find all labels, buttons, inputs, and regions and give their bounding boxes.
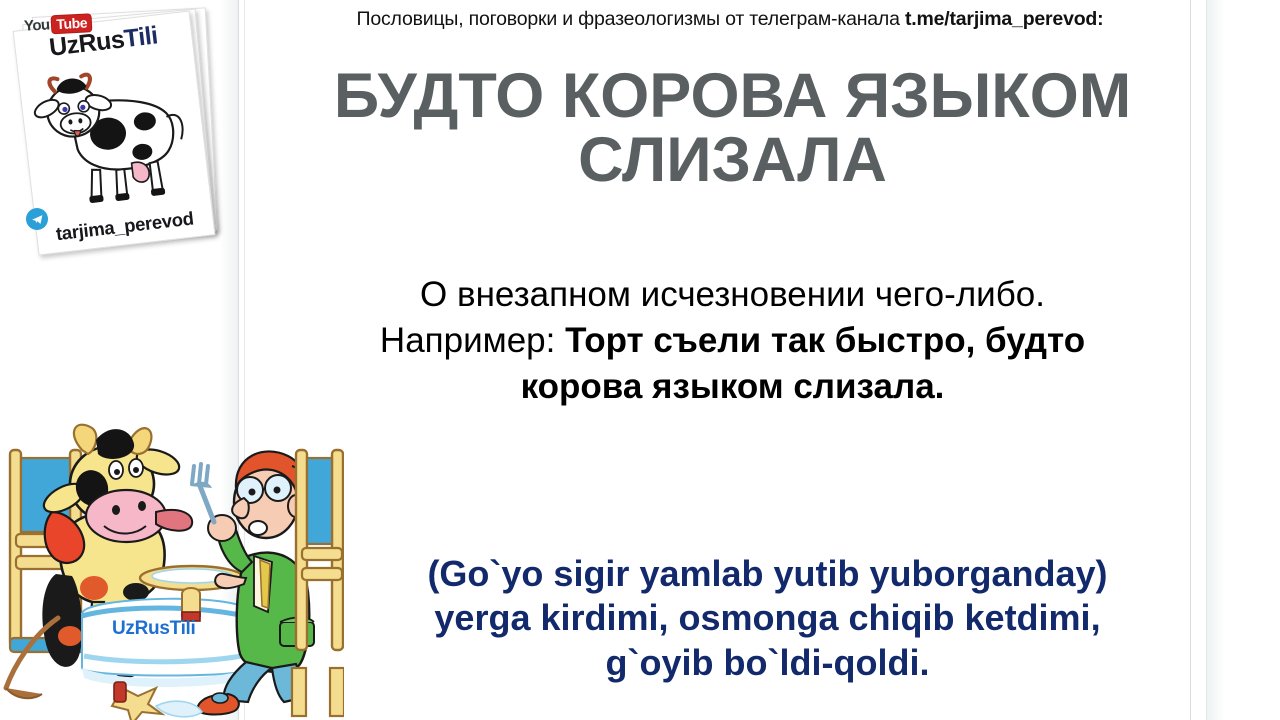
telegram-icon[interactable] xyxy=(26,208,48,230)
slide-canvas: Пословицы, поговорки и фразеологизмы от … xyxy=(0,0,1280,720)
floor-items xyxy=(112,682,202,720)
page-title-line-1: БУДТО КОРОВА ЯЗЫКОМ xyxy=(275,64,1190,128)
explanation-line-3: корова языком слизала. xyxy=(275,364,1190,410)
brand-logo-card: UzRusTili xyxy=(22,6,212,246)
explanation-example-part-1: Торт съели так быстро, будто xyxy=(565,321,1085,360)
uzbek-line-1: (Go`yo sigir yamlab yutib yuborganday) xyxy=(330,552,1205,596)
uzbek-translation-block: (Go`yo sigir yamlab yutib yuborganday) y… xyxy=(330,552,1205,685)
explanation-line-2: Например: Торт съели так быстро, будто xyxy=(275,318,1190,364)
header-channel-link: t.me/tarjima_perevod: xyxy=(905,8,1103,30)
header-plain-text: Пословицы, поговорки и фразеологизмы от … xyxy=(357,8,905,30)
logo-card-title-tili: Tili xyxy=(122,21,159,53)
explanation-prefix: Например: xyxy=(380,321,565,360)
channel-header: Пословицы, поговорки и фразеологизмы от … xyxy=(280,8,1180,31)
salt-shaker xyxy=(182,588,200,621)
youtube-logo-icon[interactable]: You Tube xyxy=(24,13,93,36)
youtube-word-you: You xyxy=(24,16,50,34)
paper-plane-glyph xyxy=(31,213,44,226)
dining-table xyxy=(82,599,254,687)
explanation-line-1: О внезапном исчезновении чего-либо. xyxy=(275,272,1190,318)
uzbek-line-3: g`oyib bo`ldi-qoldi. xyxy=(330,641,1205,685)
page-title-line-2: СЛИЗАЛА xyxy=(275,128,1190,192)
explanation-block: О внезапном исчезновении чего-либо. Напр… xyxy=(275,272,1190,411)
youtube-word-tube: Tube xyxy=(51,13,93,34)
page-title: БУДТО КОРОВА ЯЗЫКОМ СЛИЗАЛА xyxy=(275,64,1190,193)
cow-illustration-icon xyxy=(22,46,207,224)
right-gradient-band xyxy=(1207,0,1225,720)
cow-and-man-dining-illustration xyxy=(0,406,344,720)
right-divider-line-2 xyxy=(1206,0,1207,720)
uzbek-line-2: yerga kirdimi, osmonga chiqib ketdimi, xyxy=(330,596,1205,640)
cartoon-watermark: UzRusTili xyxy=(112,618,196,640)
right-chair xyxy=(292,450,344,716)
explanation-example-part-2: корова языком слизала. xyxy=(521,367,945,406)
